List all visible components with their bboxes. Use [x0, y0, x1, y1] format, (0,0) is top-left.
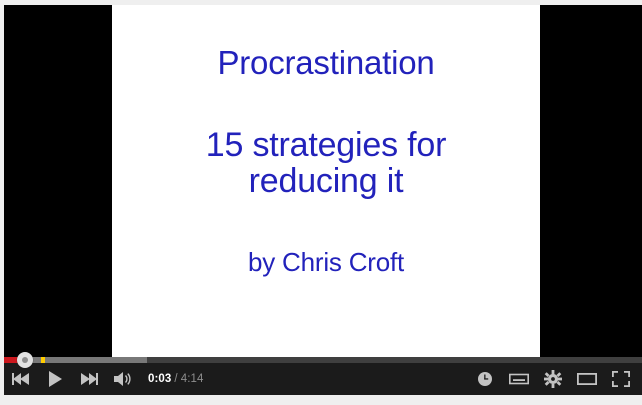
total-time: 4:14 [181, 373, 204, 385]
slide-title: Procrastination [112, 45, 540, 81]
slide-subtitle-line1: 15 strategies for [112, 127, 540, 164]
theater-button[interactable] [570, 365, 604, 393]
slide-author: by Chris Croft [112, 248, 540, 276]
next-icon [80, 372, 98, 386]
current-time: 0:03 [148, 373, 171, 385]
captions-icon [509, 372, 529, 386]
fullscreen-icon [612, 371, 630, 387]
time-separator: / [174, 373, 177, 385]
video-frame-slide: Procrastination 15 strategies for reduci… [112, 5, 540, 361]
controls-left-group: 0:03 / 4:14 [4, 365, 204, 393]
previous-icon [12, 372, 30, 386]
video-stage[interactable]: Procrastination 15 strategies for reduci… [4, 5, 642, 361]
theater-icon [577, 372, 597, 386]
watch-later-button[interactable] [468, 365, 502, 393]
slide-subtitle-line2: reducing it [112, 163, 540, 200]
page-background: Procrastination 15 strategies for reduci… [0, 0, 642, 405]
time-display: 0:03 / 4:14 [148, 365, 204, 393]
video-player[interactable]: Procrastination 15 strategies for reduci… [4, 5, 642, 395]
settings-button[interactable] [536, 365, 570, 393]
previous-button[interactable] [4, 365, 38, 393]
controls-right-group [468, 365, 638, 393]
gear-icon [544, 370, 562, 388]
volume-button[interactable] [106, 365, 140, 393]
clock-icon [477, 371, 493, 387]
play-icon [46, 370, 64, 388]
progress-chapter-marker [41, 357, 45, 363]
play-button[interactable] [38, 365, 72, 393]
slide-content: Procrastination 15 strategies for reduci… [112, 5, 540, 276]
captions-button[interactable] [502, 365, 536, 393]
fullscreen-button[interactable] [604, 365, 638, 393]
volume-icon [113, 371, 133, 387]
player-control-bar[interactable]: 0:03 / 4:14 [4, 361, 642, 395]
progress-bar[interactable] [4, 355, 642, 365]
next-button[interactable] [72, 365, 106, 393]
